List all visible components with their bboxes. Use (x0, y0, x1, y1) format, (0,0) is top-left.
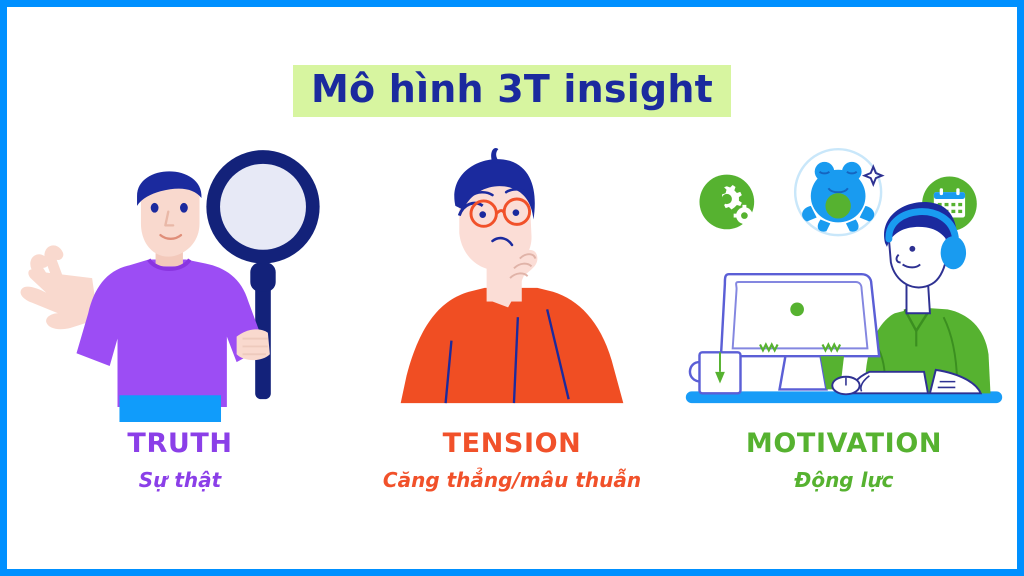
headphone-earcup (941, 236, 966, 269)
gears-icon (699, 175, 755, 230)
eye-right (513, 209, 520, 216)
caption-tension: TENSION Căng thẳng/mâu thuẫn (383, 428, 641, 492)
caption-tension-vi: Căng thẳng/mâu thuẫn (383, 469, 641, 492)
mug-handle (690, 362, 700, 382)
illustration-person-at-desk-with-headphones (678, 142, 1010, 422)
column-truth: TRUTH Sự thật (14, 142, 346, 542)
column-tension: TENSION Căng thẳng/mâu thuẫn (346, 142, 678, 542)
page-title: Mô hình 3T insight (7, 65, 1017, 117)
illustration-man-holding-magnifying-glass (14, 142, 346, 422)
caption-tension-en: TENSION (383, 428, 641, 459)
three-column-layout: TRUTH Sự thật (14, 142, 1010, 542)
illustration-worried-person-thinking (346, 142, 678, 422)
title-highlight: Mô hình 3T insight (293, 65, 731, 117)
column-motivation: MOTIVATION Động lực (678, 142, 1010, 542)
slide-canvas: Mô hình 3T insight (0, 0, 1024, 576)
caption-truth: TRUTH Sự thật (127, 428, 232, 492)
eye (909, 246, 915, 252)
caption-motivation: MOTIVATION Động lực (746, 428, 942, 492)
monitor-dot (790, 303, 804, 317)
magnifier-lens (220, 164, 306, 250)
caption-truth-en: TRUTH (127, 428, 232, 459)
caption-motivation-vi: Động lực (746, 469, 942, 492)
eye-right (180, 203, 188, 213)
eye-left (151, 203, 159, 213)
caption-truth-vi: Sự thật (127, 469, 232, 492)
eye-left (479, 211, 486, 218)
gripping-hand (237, 329, 270, 360)
sweater (76, 260, 264, 407)
frog-icon (795, 149, 882, 235)
title-text: Mô hình 3T insight (311, 67, 713, 111)
caption-motivation-en: MOTIVATION (746, 428, 942, 459)
monitor-stand (780, 356, 827, 389)
sweater (401, 288, 624, 403)
